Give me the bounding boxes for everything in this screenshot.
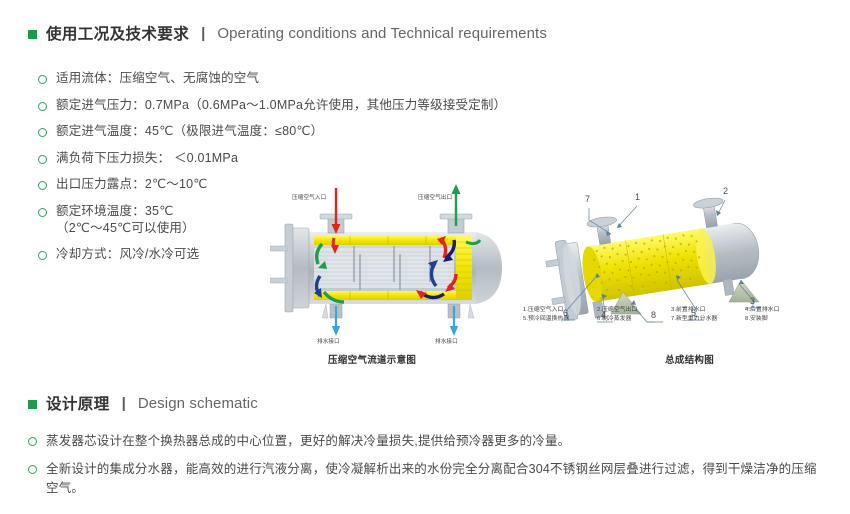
legend-item: 6.制冷蒸发器 <box>597 315 671 324</box>
section-title-separator: | <box>122 395 126 412</box>
section-title-separator: | <box>201 25 205 42</box>
legend-item: 8.安装脚 <box>745 315 819 324</box>
section-heading-design: 设计原理 | Design schematic <box>28 392 258 414</box>
design-text: 全新设计的集成分水器，能高效的进行汽液分离，使冷凝解析出来的水份完全分离配合30… <box>46 460 828 498</box>
section-title-en: Design schematic <box>138 395 258 412</box>
spec-text: 冷却方式：风冷/水冷可选 <box>56 246 199 263</box>
spec-text: 满负荷下压力损失： ＜0.01MPa <box>56 150 238 167</box>
air-flow-diagram-svg <box>270 180 525 350</box>
spec-text: 额定进气温度：45℃（极限进气温度：≤80℃） <box>56 123 323 140</box>
green-square-marker-icon <box>28 400 37 409</box>
legend-row: 1.压缩空气入口 2.压缩空气出口 3.前置排水口 4.后置排水口 <box>523 306 819 315</box>
figures-container: 压缩空气入口 压缩空气出口 排水接口 排水接口 压缩空气流道示意图 <box>270 180 830 365</box>
legend-item: 1.压缩空气入口 <box>523 306 597 315</box>
callout-1: 1 <box>635 192 640 202</box>
spec-text: 额定进气压力：0.7MPa（0.6MPa～1.0MPa允许使用，其他压力等级接受… <box>56 97 506 114</box>
list-item: 额定进气温度：45℃（极限进气温度：≤80℃） <box>38 123 558 140</box>
legend-item: 5.预冷回温换热器 <box>523 315 597 324</box>
spec-text: 适用流体：压缩空气、无腐蚀的空气 <box>56 70 259 87</box>
assembly-legend: 1.压缩空气入口 2.压缩空气出口 3.前置排水口 4.后置排水口 5.预冷回温… <box>523 306 819 324</box>
legend-item: 3.前置排水口 <box>671 306 745 315</box>
legend-row: 5.预冷回温换热器 6.制冷蒸发器 7.新型重力分水器 8.安装脚 <box>523 315 819 324</box>
legend-item: 2.压缩空气出口 <box>597 306 671 315</box>
section-title-cn: 使用工况及技术要求 <box>46 22 189 44</box>
circle-bullet-icon <box>38 75 47 84</box>
assembly-diagram-svg: 7 1 2 3 4 5 6 8 <box>545 180 830 350</box>
figure-label-drain-right: 排水接口 <box>435 337 458 345</box>
figure-assembly-structure: 7 1 2 3 4 5 6 8 1.压缩空气入口 2.压缩空气出口 3.前置排水… <box>545 180 830 365</box>
figure-label-drain-left: 排水接口 <box>317 337 340 345</box>
circle-bullet-icon <box>28 465 37 474</box>
legend-item: 4.后置排水口 <box>745 306 819 315</box>
section-heading-operating: 使用工况及技术要求 | Operating conditions and Tec… <box>28 22 547 44</box>
list-item: 额定进气压力：0.7MPa（0.6MPa～1.0MPa允许使用，其他压力等级接受… <box>38 97 558 114</box>
circle-bullet-icon <box>38 251 47 260</box>
callout-7: 7 <box>585 194 590 204</box>
spec-text: 额定环境温度：35℃ （2℃～45℃可以使用） <box>56 203 195 237</box>
spec-text: 出口压力露点：2℃～10℃ <box>56 176 208 193</box>
circle-bullet-icon <box>38 128 47 137</box>
callout-2: 2 <box>723 186 728 196</box>
list-item: 满负荷下压力损失： ＜0.01MPa <box>38 150 558 167</box>
list-item: 蒸发器芯设计在整个换热器总成的中心位置，更好的解决冷量损失,提供给预冷器更多的冷… <box>28 432 828 451</box>
design-text: 蒸发器芯设计在整个换热器总成的中心位置，更好的解决冷量损失,提供给预冷器更多的冷… <box>46 432 570 451</box>
figure-caption-assembly: 总成结构图 <box>665 352 714 366</box>
circle-bullet-icon <box>38 181 47 190</box>
callout-3: 3 <box>750 296 755 306</box>
list-item: 适用流体：压缩空气、无腐蚀的空气 <box>38 70 558 87</box>
circle-bullet-icon <box>38 155 47 164</box>
section-title-cn: 设计原理 <box>46 392 110 414</box>
figure-label-outlet: 压缩空气出口 <box>418 193 452 201</box>
design-principle-list: 蒸发器芯设计在整个换热器总成的中心位置，更好的解决冷量损失,提供给预冷器更多的冷… <box>28 432 828 507</box>
circle-bullet-icon <box>28 437 37 446</box>
figure-label-inlet: 压缩空气入口 <box>292 193 326 201</box>
figure-caption-flow: 压缩空气流道示意图 <box>328 352 416 366</box>
legend-item: 7.新型重力分水器 <box>671 315 745 324</box>
circle-bullet-icon <box>38 102 47 111</box>
circle-bullet-icon <box>38 208 47 217</box>
list-item: 全新设计的集成分水器，能高效的进行汽液分离，使冷凝解析出来的水份完全分离配合30… <box>28 460 828 498</box>
green-square-marker-icon <box>28 30 37 39</box>
figure-air-flow-schematic: 压缩空气入口 压缩空气出口 排水接口 排水接口 压缩空气流道示意图 <box>270 180 525 365</box>
section-title-en: Operating conditions and Technical requi… <box>217 25 547 42</box>
